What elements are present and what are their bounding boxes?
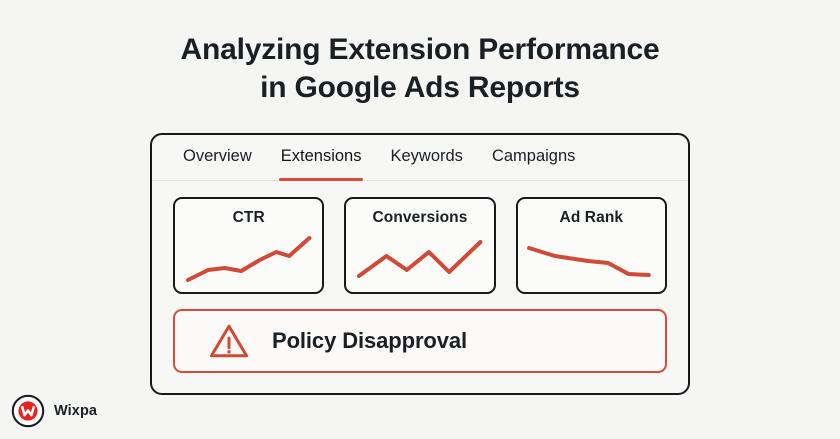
- tab-campaigns[interactable]: Campaigns: [492, 147, 575, 168]
- tab-keywords-label: Keywords: [390, 147, 462, 165]
- tab-extensions[interactable]: Extensions: [281, 147, 362, 168]
- tab-campaigns-label: Campaigns: [492, 147, 575, 165]
- policy-disapproval-label: Policy Disapproval: [272, 328, 467, 354]
- tab-keywords[interactable]: Keywords: [390, 147, 462, 168]
- sparkline-ctr-chart: [175, 230, 322, 288]
- metric-card-ctr-title: CTR: [175, 209, 322, 227]
- metric-card-row: CTR Conversions Ad Rank: [152, 181, 688, 294]
- brand-logo-text: Wixpa: [54, 403, 97, 419]
- sparkline-ad-rank-chart: [518, 230, 665, 288]
- page-title-line-2: in Google Ads Reports: [0, 69, 840, 107]
- sparkline-conversions-chart: [346, 230, 493, 288]
- tab-extensions-label: Extensions: [281, 147, 362, 165]
- metric-card-conversions-title: Conversions: [346, 209, 493, 227]
- page-title: Analyzing Extension Performance in Googl…: [0, 31, 840, 107]
- warning-triangle-icon: [208, 322, 250, 360]
- tab-bar: Overview Extensions Keywords Campaigns: [152, 135, 688, 181]
- metric-card-ctr[interactable]: CTR: [173, 197, 324, 294]
- report-panel: Overview Extensions Keywords Campaigns C…: [150, 133, 690, 395]
- tab-overview-label: Overview: [183, 147, 252, 165]
- metric-card-conversions[interactable]: Conversions: [344, 197, 495, 294]
- metric-card-ad-rank[interactable]: Ad Rank: [516, 197, 667, 294]
- metric-card-ad-rank-title: Ad Rank: [518, 209, 665, 227]
- brand-logo: Wixpa: [11, 394, 97, 428]
- wixpa-w-mark-icon: [11, 394, 45, 428]
- page-title-line-1: Analyzing Extension Performance: [0, 31, 840, 69]
- policy-disapproval-alert[interactable]: Policy Disapproval: [173, 309, 667, 373]
- tab-overview[interactable]: Overview: [183, 147, 252, 168]
